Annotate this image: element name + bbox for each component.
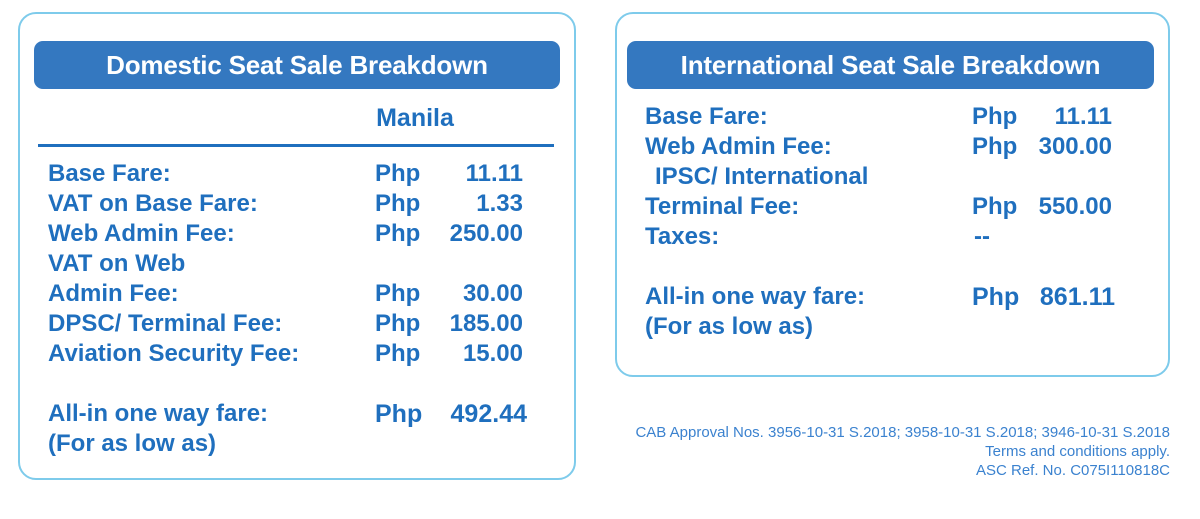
fee-amount: 30.00 (420, 279, 523, 309)
domestic-card-title: Domestic Seat Sale Breakdown (106, 50, 488, 81)
fee-value: Php 11.11 (375, 159, 523, 189)
fee-value: Php 550.00 (972, 192, 1112, 222)
fee-label: VAT on Base Fare: (48, 189, 258, 219)
fee-currency: Php (972, 102, 1017, 132)
fee-row: Base Fare: Php 11.11 (48, 159, 558, 189)
fee-value: -- (972, 222, 1112, 252)
terms-and-conditions-line: Terms and conditions apply. (600, 442, 1170, 461)
fee-row: Taxes: -- (629, 222, 1159, 252)
fee-row: Aviation Security Fee: Php 15.00 (48, 339, 558, 369)
total-value: Php 861.11 (972, 282, 1115, 312)
fee-amount: -- (972, 222, 1112, 252)
fee-currency: Php (375, 189, 420, 219)
domestic-breakdown-card: Domestic Seat Sale Breakdown Manila Base… (18, 12, 576, 480)
fee-label: VAT on Web (48, 249, 185, 279)
fee-label: Web Admin Fee: (48, 219, 235, 249)
total-label: All-in one way fare: (645, 282, 865, 312)
international-total-sublabel-row: (For as low as) (629, 312, 1159, 342)
total-currency: Php (972, 282, 1019, 312)
fee-currency: Php (375, 339, 420, 369)
fee-label: IPSC/ International (645, 162, 868, 192)
fee-label: Base Fare: (48, 159, 171, 189)
domestic-fee-list: Base Fare: Php 11.11 VAT on Base Fare: P… (48, 159, 558, 369)
fee-value: Php 300.00 (972, 132, 1112, 162)
domestic-column-header-manila: Manila (340, 104, 490, 133)
fee-label: Base Fare: (645, 102, 768, 132)
fee-currency: Php (375, 279, 420, 309)
fee-value: Php 1.33 (375, 189, 523, 219)
fine-print-block: CAB Approval Nos. 3956-10-31 S.2018; 395… (600, 423, 1170, 480)
fee-value: Php 30.00 (375, 279, 523, 309)
fee-row: Admin Fee: Php 30.00 (48, 279, 558, 309)
fee-amount: 1.33 (420, 189, 523, 219)
fee-amount: 300.00 (1017, 132, 1112, 162)
domestic-total-row: All-in one way fare: Php 492.44 (48, 399, 558, 429)
fee-currency: Php (972, 132, 1017, 162)
total-amount: 492.44 (422, 399, 527, 429)
domestic-total-block: All-in one way fare: Php 492.44 (For as … (48, 399, 558, 459)
total-sublabel: (For as low as) (48, 429, 216, 459)
total-sublabel: (For as low as) (645, 312, 813, 342)
fee-label: Admin Fee: (48, 279, 179, 309)
fee-row: Web Admin Fee: Php 250.00 (48, 219, 558, 249)
fee-label: DPSC/ Terminal Fee: (48, 309, 282, 339)
fee-value: Php 250.00 (375, 219, 523, 249)
fee-row: IPSC/ International (629, 162, 1159, 192)
fee-currency: Php (375, 309, 420, 339)
fee-currency: Php (972, 192, 1017, 222)
international-total-row: All-in one way fare: Php 861.11 (629, 282, 1159, 312)
fee-amount: 11.11 (1017, 102, 1112, 132)
fee-row: Web Admin Fee: Php 300.00 (629, 132, 1159, 162)
fee-label: Aviation Security Fee: (48, 339, 299, 369)
fee-currency: Php (375, 159, 420, 189)
fee-amount: 185.00 (420, 309, 523, 339)
fee-amount: 15.00 (420, 339, 523, 369)
fee-row: VAT on Web (48, 249, 558, 279)
fee-label: Terminal Fee: (645, 192, 799, 222)
international-breakdown-card: International Seat Sale Breakdown Base F… (615, 12, 1170, 377)
fee-row: DPSC/ Terminal Fee: Php 185.00 (48, 309, 558, 339)
asc-reference-line: ASC Ref. No. C075I110818C (600, 461, 1170, 480)
seat-sale-breakdown-page: Domestic Seat Sale Breakdown Manila Base… (0, 0, 1200, 519)
total-currency: Php (375, 399, 422, 429)
international-total-block: All-in one way fare: Php 861.11 (For as … (629, 282, 1159, 342)
fee-currency: Php (375, 219, 420, 249)
cab-approval-line: CAB Approval Nos. 3956-10-31 S.2018; 395… (600, 423, 1170, 442)
domestic-header-divider (38, 144, 554, 147)
international-card-header: International Seat Sale Breakdown (627, 41, 1154, 89)
international-fee-list: Base Fare: Php 11.11 Web Admin Fee: Php … (629, 102, 1159, 252)
fee-amount: 11.11 (420, 159, 523, 189)
fee-row: VAT on Base Fare: Php 1.33 (48, 189, 558, 219)
domestic-column-header-row: Manila (40, 104, 556, 144)
fee-row: Base Fare: Php 11.11 (629, 102, 1159, 132)
fee-amount: 250.00 (420, 219, 523, 249)
domestic-total-sublabel-row: (For as low as) (48, 429, 558, 459)
fee-label: Taxes: (645, 222, 719, 252)
fee-value: Php 15.00 (375, 339, 523, 369)
total-value: Php 492.44 (375, 399, 527, 429)
fee-value: Php 185.00 (375, 309, 523, 339)
total-label: All-in one way fare: (48, 399, 268, 429)
domestic-card-header: Domestic Seat Sale Breakdown (34, 41, 560, 89)
total-amount: 861.11 (1019, 282, 1115, 312)
international-card-title: International Seat Sale Breakdown (681, 50, 1101, 81)
fee-value: Php 11.11 (972, 102, 1112, 132)
fee-row: Terminal Fee: Php 550.00 (629, 192, 1159, 222)
fee-label: Web Admin Fee: (645, 132, 832, 162)
fee-amount: 550.00 (1017, 192, 1112, 222)
